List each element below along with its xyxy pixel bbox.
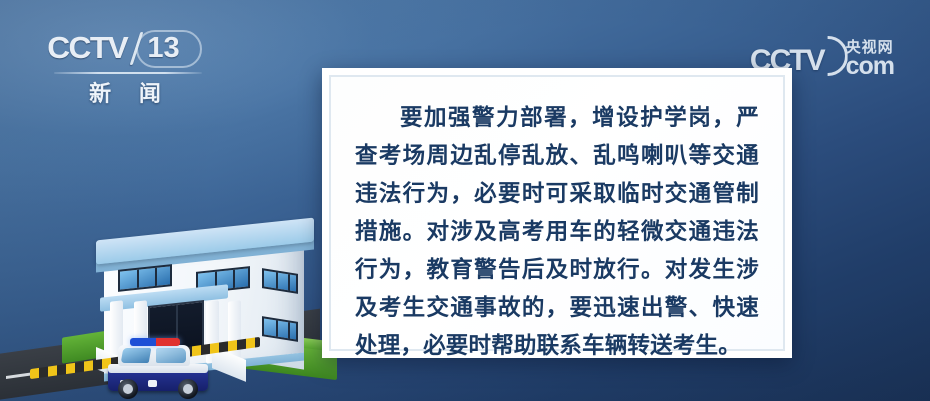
cctv13-logo: CCTV 13 新 闻	[48, 28, 208, 100]
watermark-domain-text: com	[846, 55, 894, 78]
watermark-arc-icon	[820, 40, 850, 78]
quote-panel: 要加强警力部署，增设护学岗，严查考场周边乱停乱放、乱鸣喇叭等交通违法行为，必要时…	[322, 68, 792, 358]
quote-panel-text: 要加强警力部署，增设护学岗，严查考场周边乱停乱放、乱鸣喇叭等交通违法行为，必要时…	[355, 99, 759, 365]
police-car-rear-window	[156, 348, 186, 363]
police-car-wheel	[178, 379, 198, 399]
police-car-headlight	[148, 380, 157, 387]
police-car-windshield	[121, 348, 152, 363]
logo-brand-text: CCTV	[47, 30, 127, 66]
police-car-wheel	[118, 379, 138, 399]
logo-bubble-outline-icon	[136, 30, 202, 68]
watermark-text-group: 央视网 com	[846, 39, 894, 78]
police-car	[104, 337, 214, 399]
police-car-lightbar-icon	[130, 338, 180, 346]
logo-underline-divider	[54, 72, 202, 74]
quote-panel-inner: 要加强警力部署，增设护学岗，严查考场周边乱停乱放、乱鸣喇叭等交通违法行为，必要时…	[329, 75, 785, 351]
logo-subtitle: 新 闻	[70, 76, 190, 108]
broadcast-screen: CCTV 13 新 闻 CCTV 央视网 com	[0, 0, 930, 401]
police-station-3d-illustration	[0, 151, 360, 401]
